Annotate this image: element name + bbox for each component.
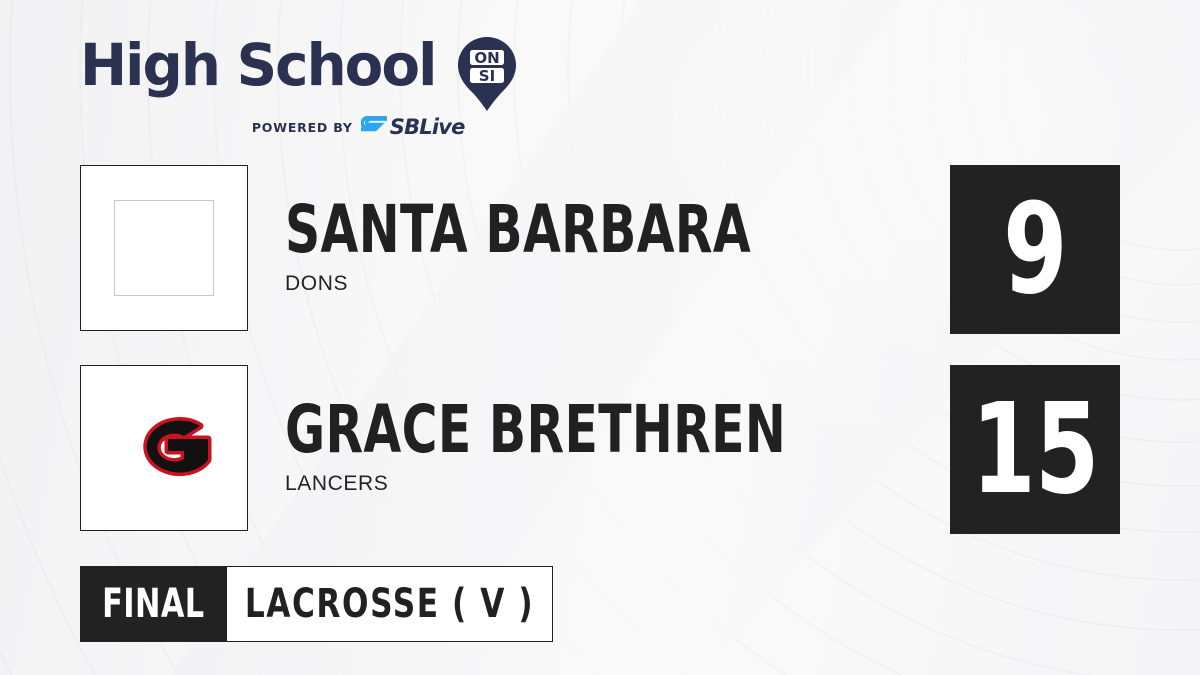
team-score-box: 9 xyxy=(950,165,1120,334)
team-mascot: LANCERS xyxy=(285,472,962,496)
brand-wordmark: High School xyxy=(80,38,435,93)
game-status-panel: FINAL xyxy=(80,566,227,642)
game-status-label: FINAL xyxy=(102,581,204,627)
brand-lockup: High School ON SI POWERED BY SBLive xyxy=(80,38,518,138)
sblive-logo: SBLive xyxy=(361,116,465,138)
pin-badge-line-2: SI xyxy=(479,67,495,85)
team-text-block: SANTA BARBARA DONS xyxy=(285,165,915,331)
team-logo-box xyxy=(80,165,248,331)
sport-panel: LACROSSE ( V ) xyxy=(227,566,553,642)
sblive-s-icon xyxy=(361,116,387,138)
team-name: GRACE BRETHREN xyxy=(285,400,786,461)
on-si-pin-icon: ON SI xyxy=(456,36,518,112)
brand-wordmark-row: High School ON SI xyxy=(80,38,518,112)
scoreboard-graphic: High School ON SI POWERED BY SBLive xyxy=(0,0,1200,675)
team-text-block: GRACE BRETHREN LANCERS xyxy=(285,365,962,531)
team-logo-placeholder-icon xyxy=(114,200,214,296)
sblive-wordmark: SBLive xyxy=(390,117,465,138)
pin-badge-line-1: ON xyxy=(475,49,500,67)
sport-label: LACROSSE ( V ) xyxy=(245,581,534,627)
powered-by-label: POWERED BY xyxy=(252,120,353,135)
team-score: 15 xyxy=(971,387,1098,512)
sblive-wordmark-bold: SBL xyxy=(390,115,432,139)
powered-by-row: POWERED BY SBLive xyxy=(198,116,518,138)
status-bar: FINAL LACROSSE ( V ) xyxy=(80,566,553,642)
team-name: SANTA BARBARA xyxy=(285,200,751,261)
sblive-wordmark-light: ive xyxy=(432,115,465,139)
grace-brethren-g-icon xyxy=(114,400,214,496)
team-score: 9 xyxy=(1003,187,1067,312)
team-score-box: 15 xyxy=(950,365,1120,534)
team-mascot: DONS xyxy=(285,272,915,296)
team-logo-box xyxy=(80,365,248,531)
